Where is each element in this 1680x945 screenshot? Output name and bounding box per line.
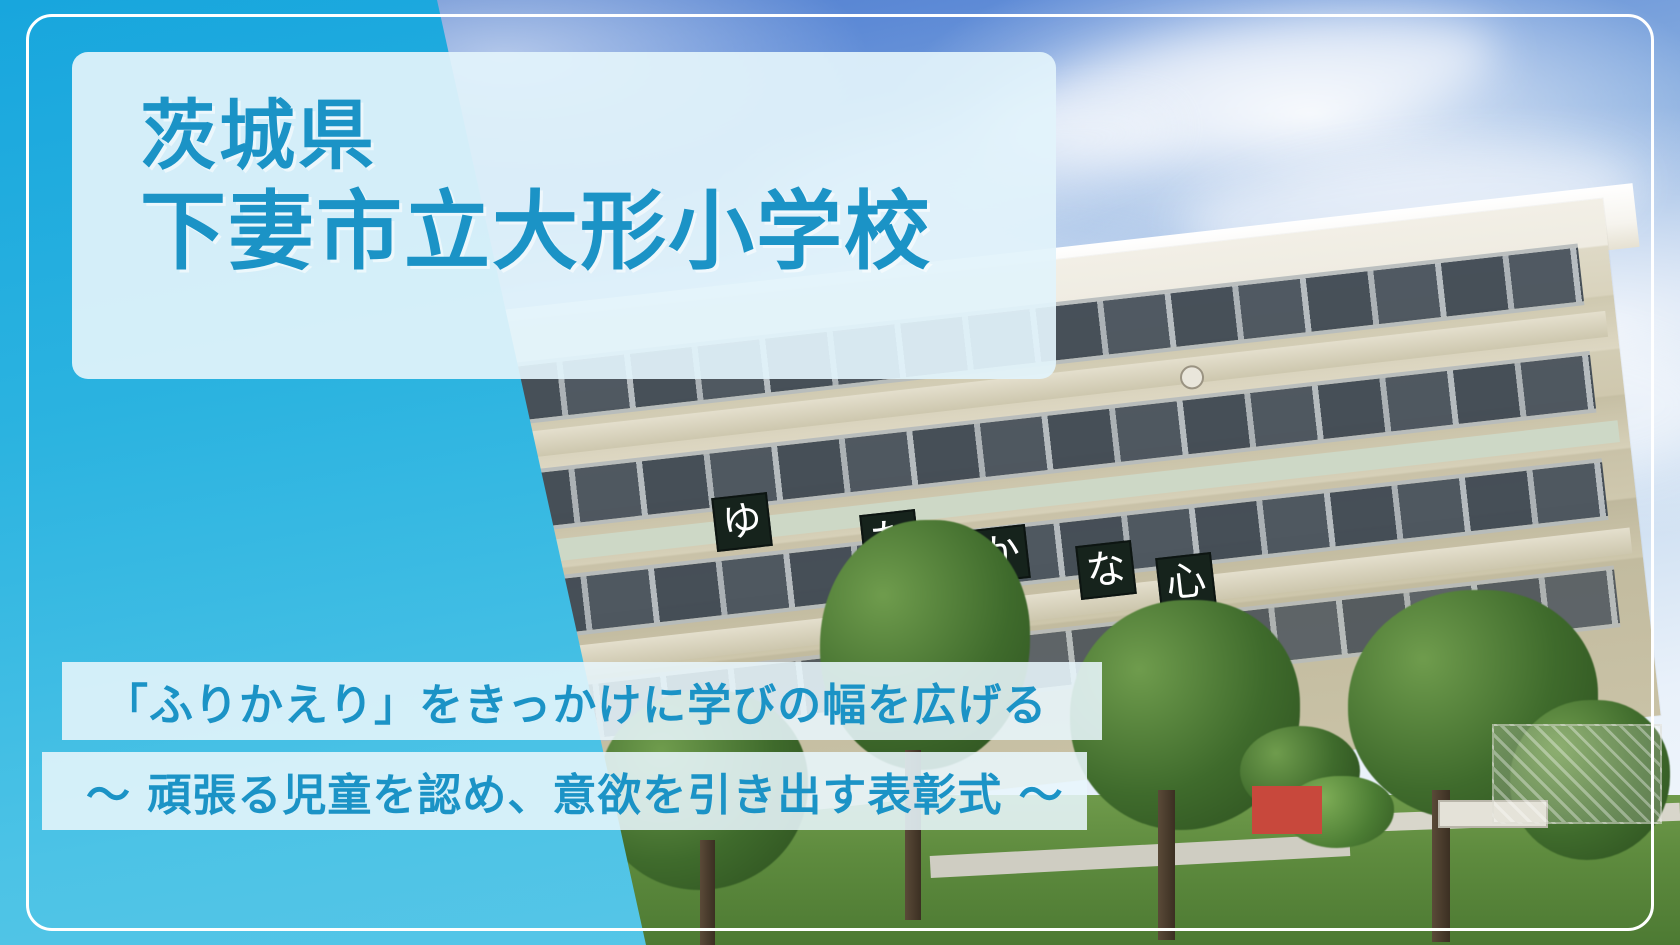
facade-sign: な — [1075, 540, 1137, 600]
tree-trunk — [1158, 790, 1175, 940]
title-text-group: 茨城県 下妻市立大形小学校 — [72, 52, 1056, 379]
garden-trellis — [1492, 724, 1662, 824]
subtitle-banner-secondary: 〜 頑張る児童を認め、意欲を引き出す表彰式 〜 — [42, 752, 1087, 830]
facade-sign: ゆ — [711, 492, 773, 552]
tree-trunk — [700, 840, 715, 945]
hero-banner: ゆ た か な 心 茨城県 下妻市立大形小学校 「ふりかえり」をきっかけに学びの… — [0, 0, 1680, 945]
school-name: 下妻市立大形小学校 — [140, 184, 1056, 280]
prefecture-name: 茨城県 — [140, 96, 1056, 176]
subtitle-banner-primary: 「ふりかえり」をきっかけに学びの幅を広げる — [62, 662, 1102, 740]
outdoor-fixture — [1252, 786, 1322, 834]
